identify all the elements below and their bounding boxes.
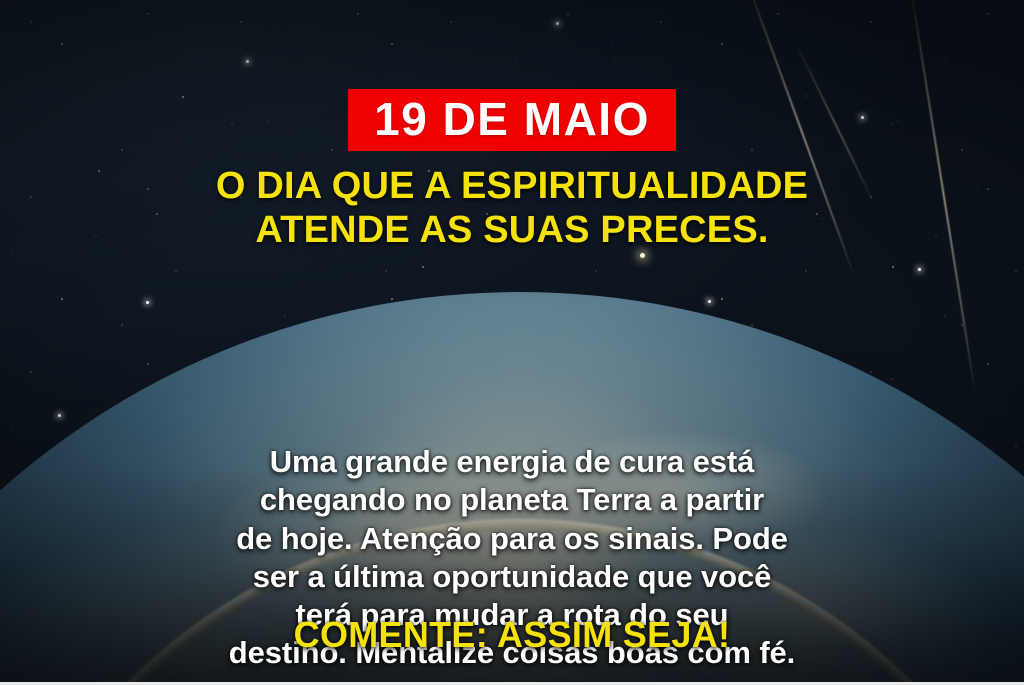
headline-line-1: O DIA QUE A ESPIRITUALIDADE — [30, 164, 994, 208]
body-line-2: chegando no planeta Terra a partir — [48, 481, 976, 519]
call-to-action-text: COMENTE: ASSIM SEJA! — [0, 614, 1024, 656]
poster-content: 19 DE MAIO O DIA QUE A ESPIRITUALIDADE A… — [0, 0, 1024, 685]
headline-line-2: ATENDE AS SUAS PRECES. — [30, 208, 994, 252]
body-line-3: de hoje. Atenção para os sinais. Pode — [48, 520, 976, 558]
poster-canvas: 19 DE MAIO O DIA QUE A ESPIRITUALIDADE A… — [0, 0, 1024, 685]
headline: O DIA QUE A ESPIRITUALIDADE ATENDE AS SU… — [0, 164, 1024, 252]
body-line-4: ser a última oportunidade que você — [48, 558, 976, 596]
date-banner-label: 19 DE MAIO — [374, 96, 650, 142]
body-line-1: Uma grande energia de cura está — [48, 443, 976, 481]
date-banner: 19 DE MAIO — [348, 89, 676, 151]
